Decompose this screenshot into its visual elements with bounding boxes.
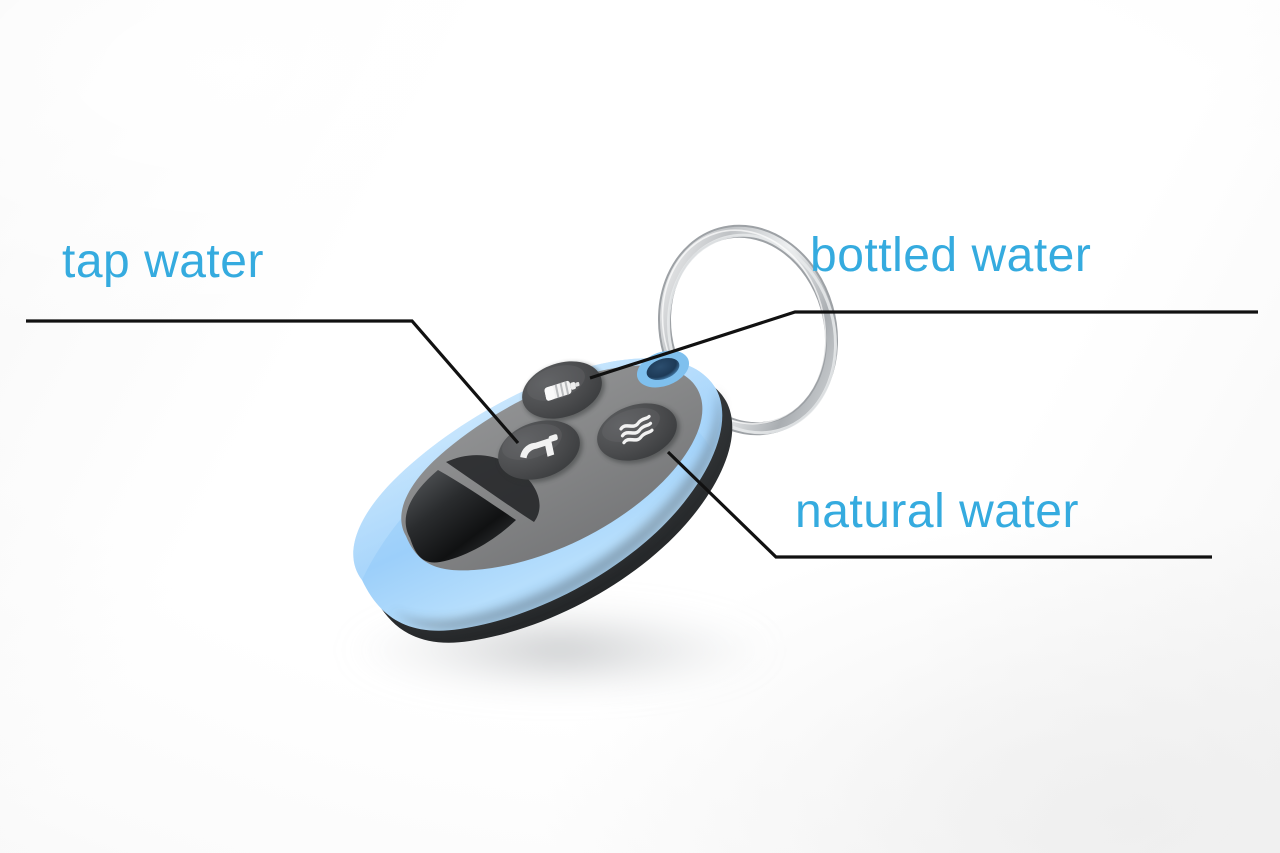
product-render-stage: tap water bottled water natural water: [0, 0, 1280, 853]
annotation-leader-lines: [0, 0, 1280, 853]
callout-label-tap-water: tap water: [62, 238, 264, 286]
leader-line-tap-water: [26, 321, 518, 443]
callout-label-natural-water: natural water: [795, 488, 1079, 536]
callout-label-bottled-water: bottled water: [810, 232, 1091, 280]
leader-line-bottled-water: [590, 312, 1258, 378]
